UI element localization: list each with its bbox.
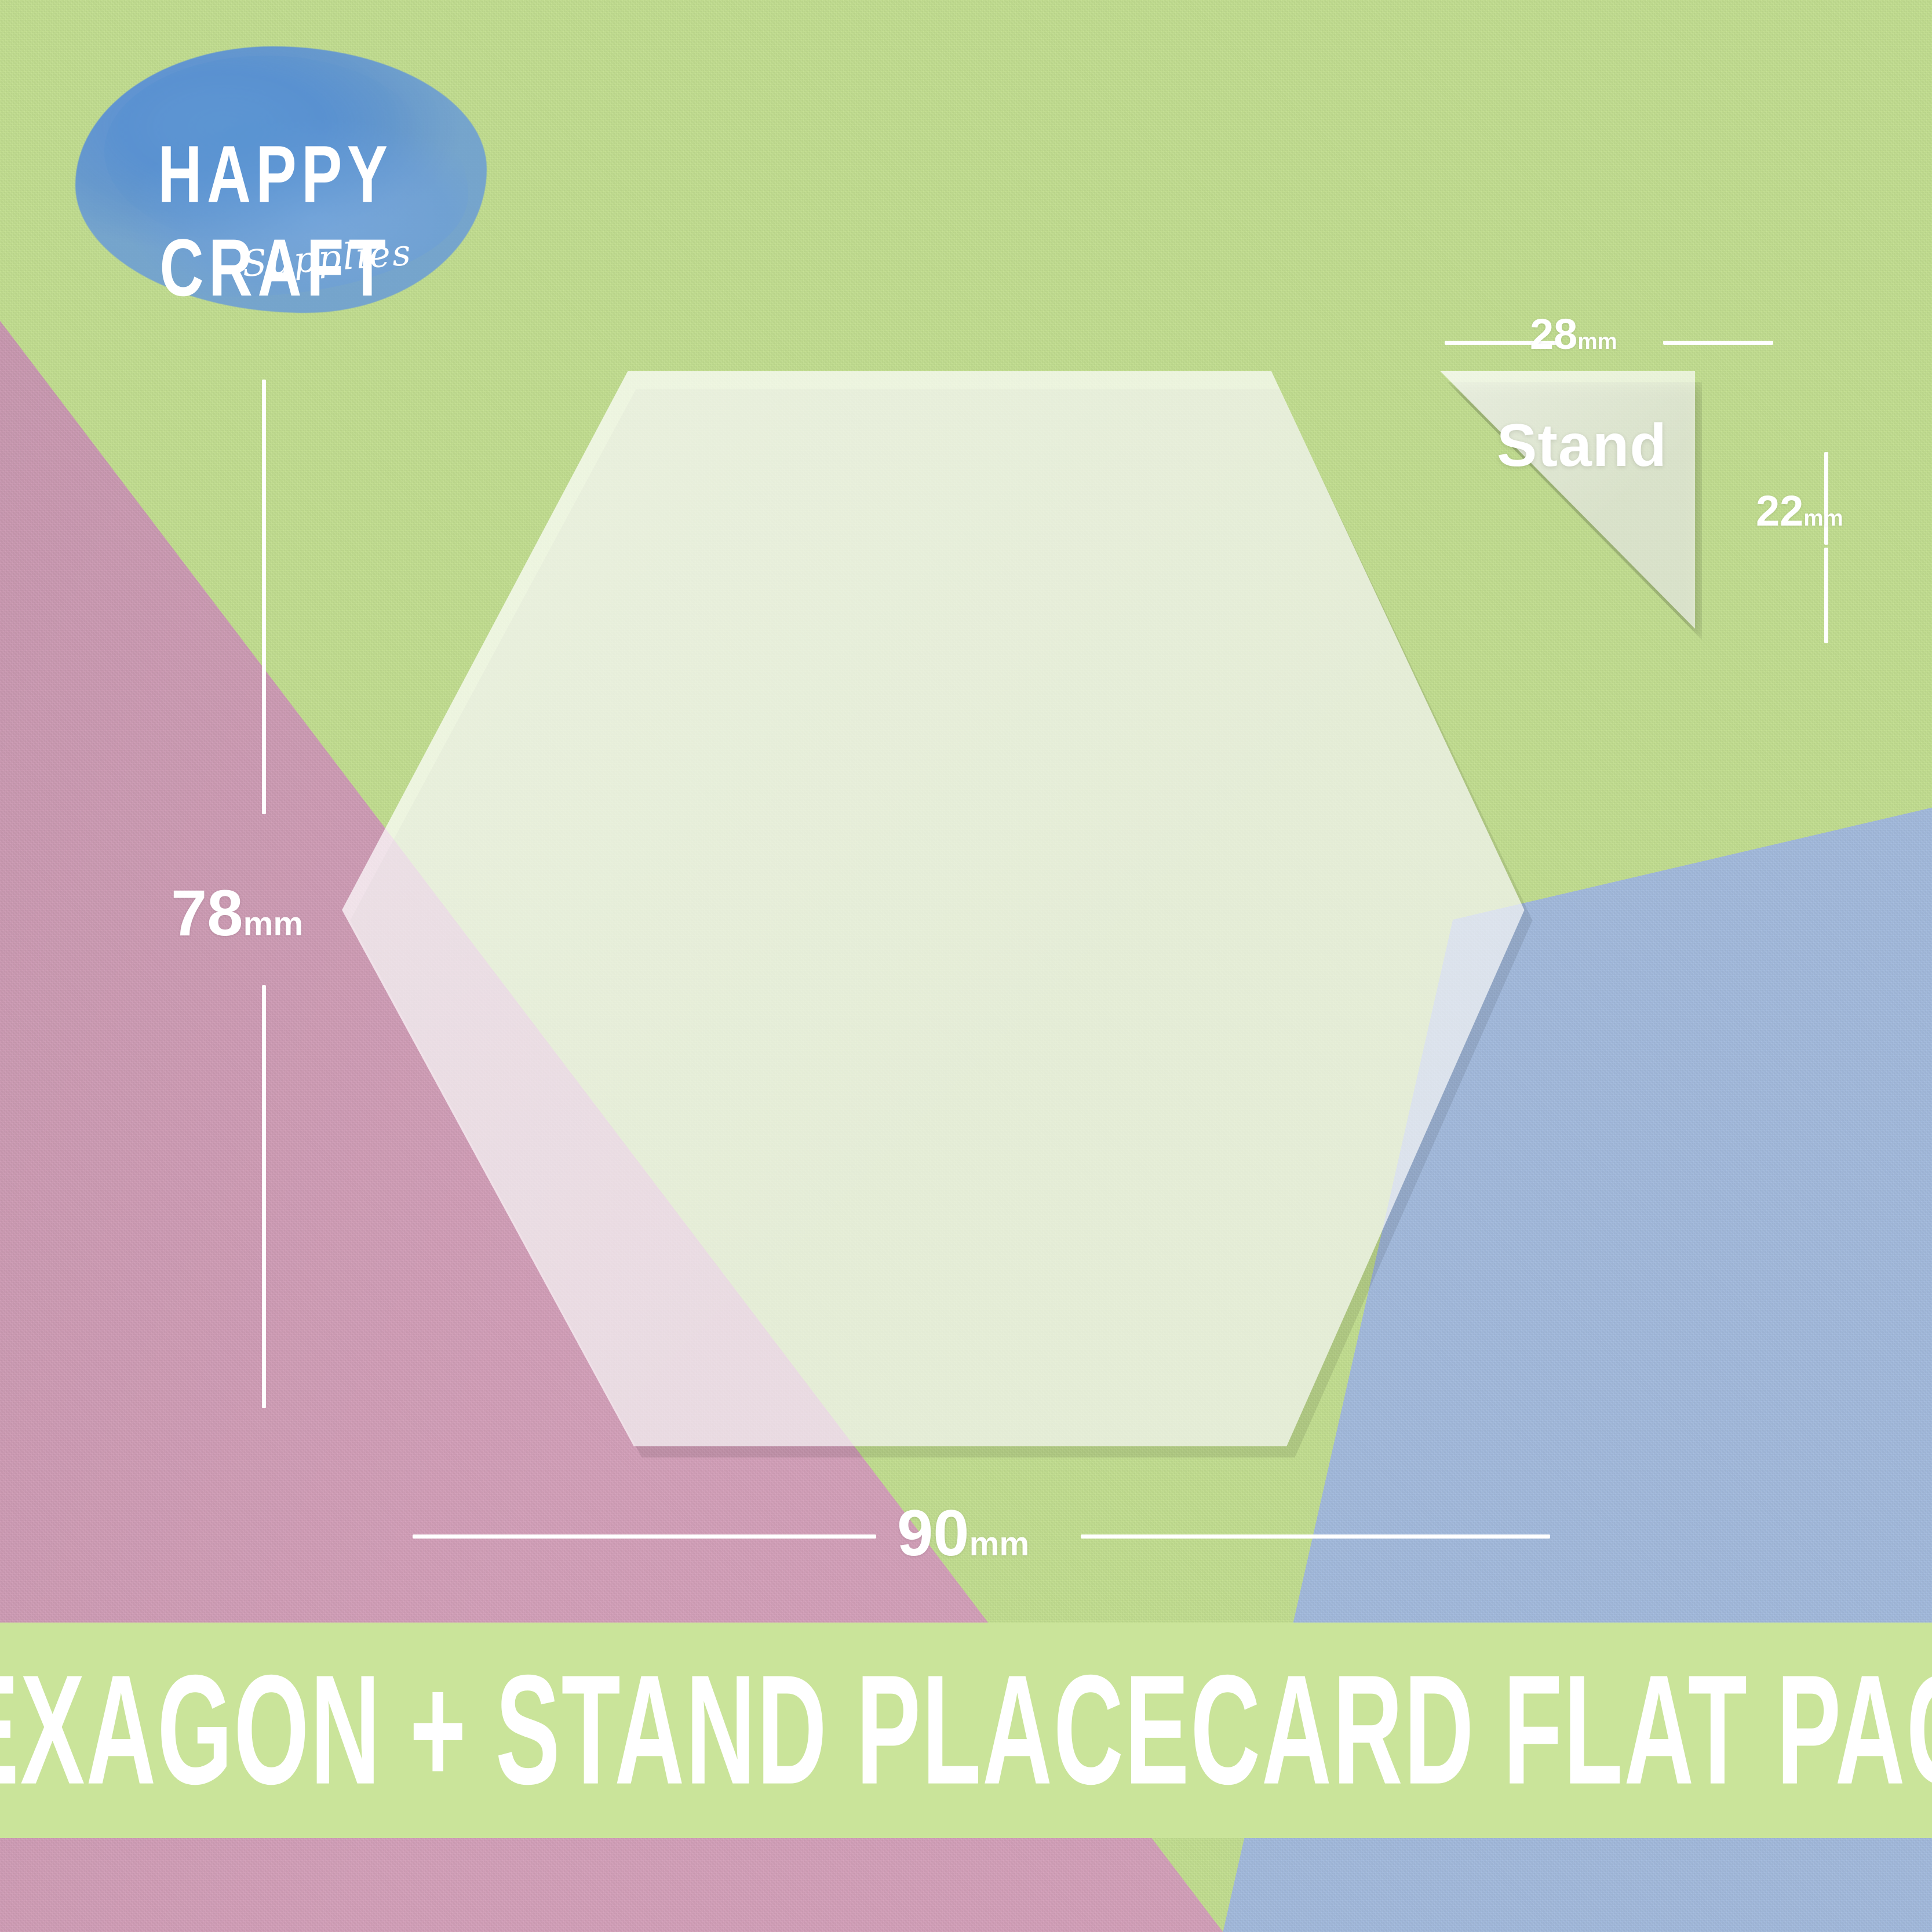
dimension-rule-90-left (413, 1534, 876, 1539)
dimension-value-78: 78 (171, 877, 243, 949)
dimension-label-78mm: 78mm (171, 881, 303, 946)
dimension-rule-78-lower (262, 985, 266, 1408)
dimension-value-90: 90 (897, 1497, 969, 1569)
dimension-rule-78-upper (262, 380, 266, 814)
stand-label: Stand (1481, 411, 1683, 480)
product-graphic-canvas: Stand HAPPY CRAFT Supplies 78mm 90mm 28m… (0, 0, 1932, 1932)
dimension-label-90mm: 90mm (897, 1501, 1029, 1566)
dimension-unit-22: mm (1803, 506, 1843, 531)
dimension-rule-22-lower (1824, 548, 1828, 643)
dimension-value-28: 28 (1530, 310, 1577, 358)
product-title-banner: HEXAGON + STAND PLACECARD FLAT PACK (0, 1623, 1932, 1838)
product-title: HEXAGON + STAND PLACECARD FLAT PACK (0, 1652, 1932, 1808)
dimension-unit-78: mm (243, 905, 304, 943)
dimension-label-22mm: 22mm (1756, 490, 1843, 533)
dimension-unit-28: mm (1577, 329, 1617, 354)
dimension-label-28mm: 28mm (1530, 313, 1617, 356)
dimension-value-22: 22 (1756, 487, 1803, 535)
dimension-rule-28-right (1663, 341, 1773, 345)
brand-logo: HAPPY CRAFT Supplies (35, 41, 516, 319)
dimension-unit-90: mm (969, 1525, 1030, 1563)
dimension-rule-90-right (1081, 1534, 1550, 1539)
